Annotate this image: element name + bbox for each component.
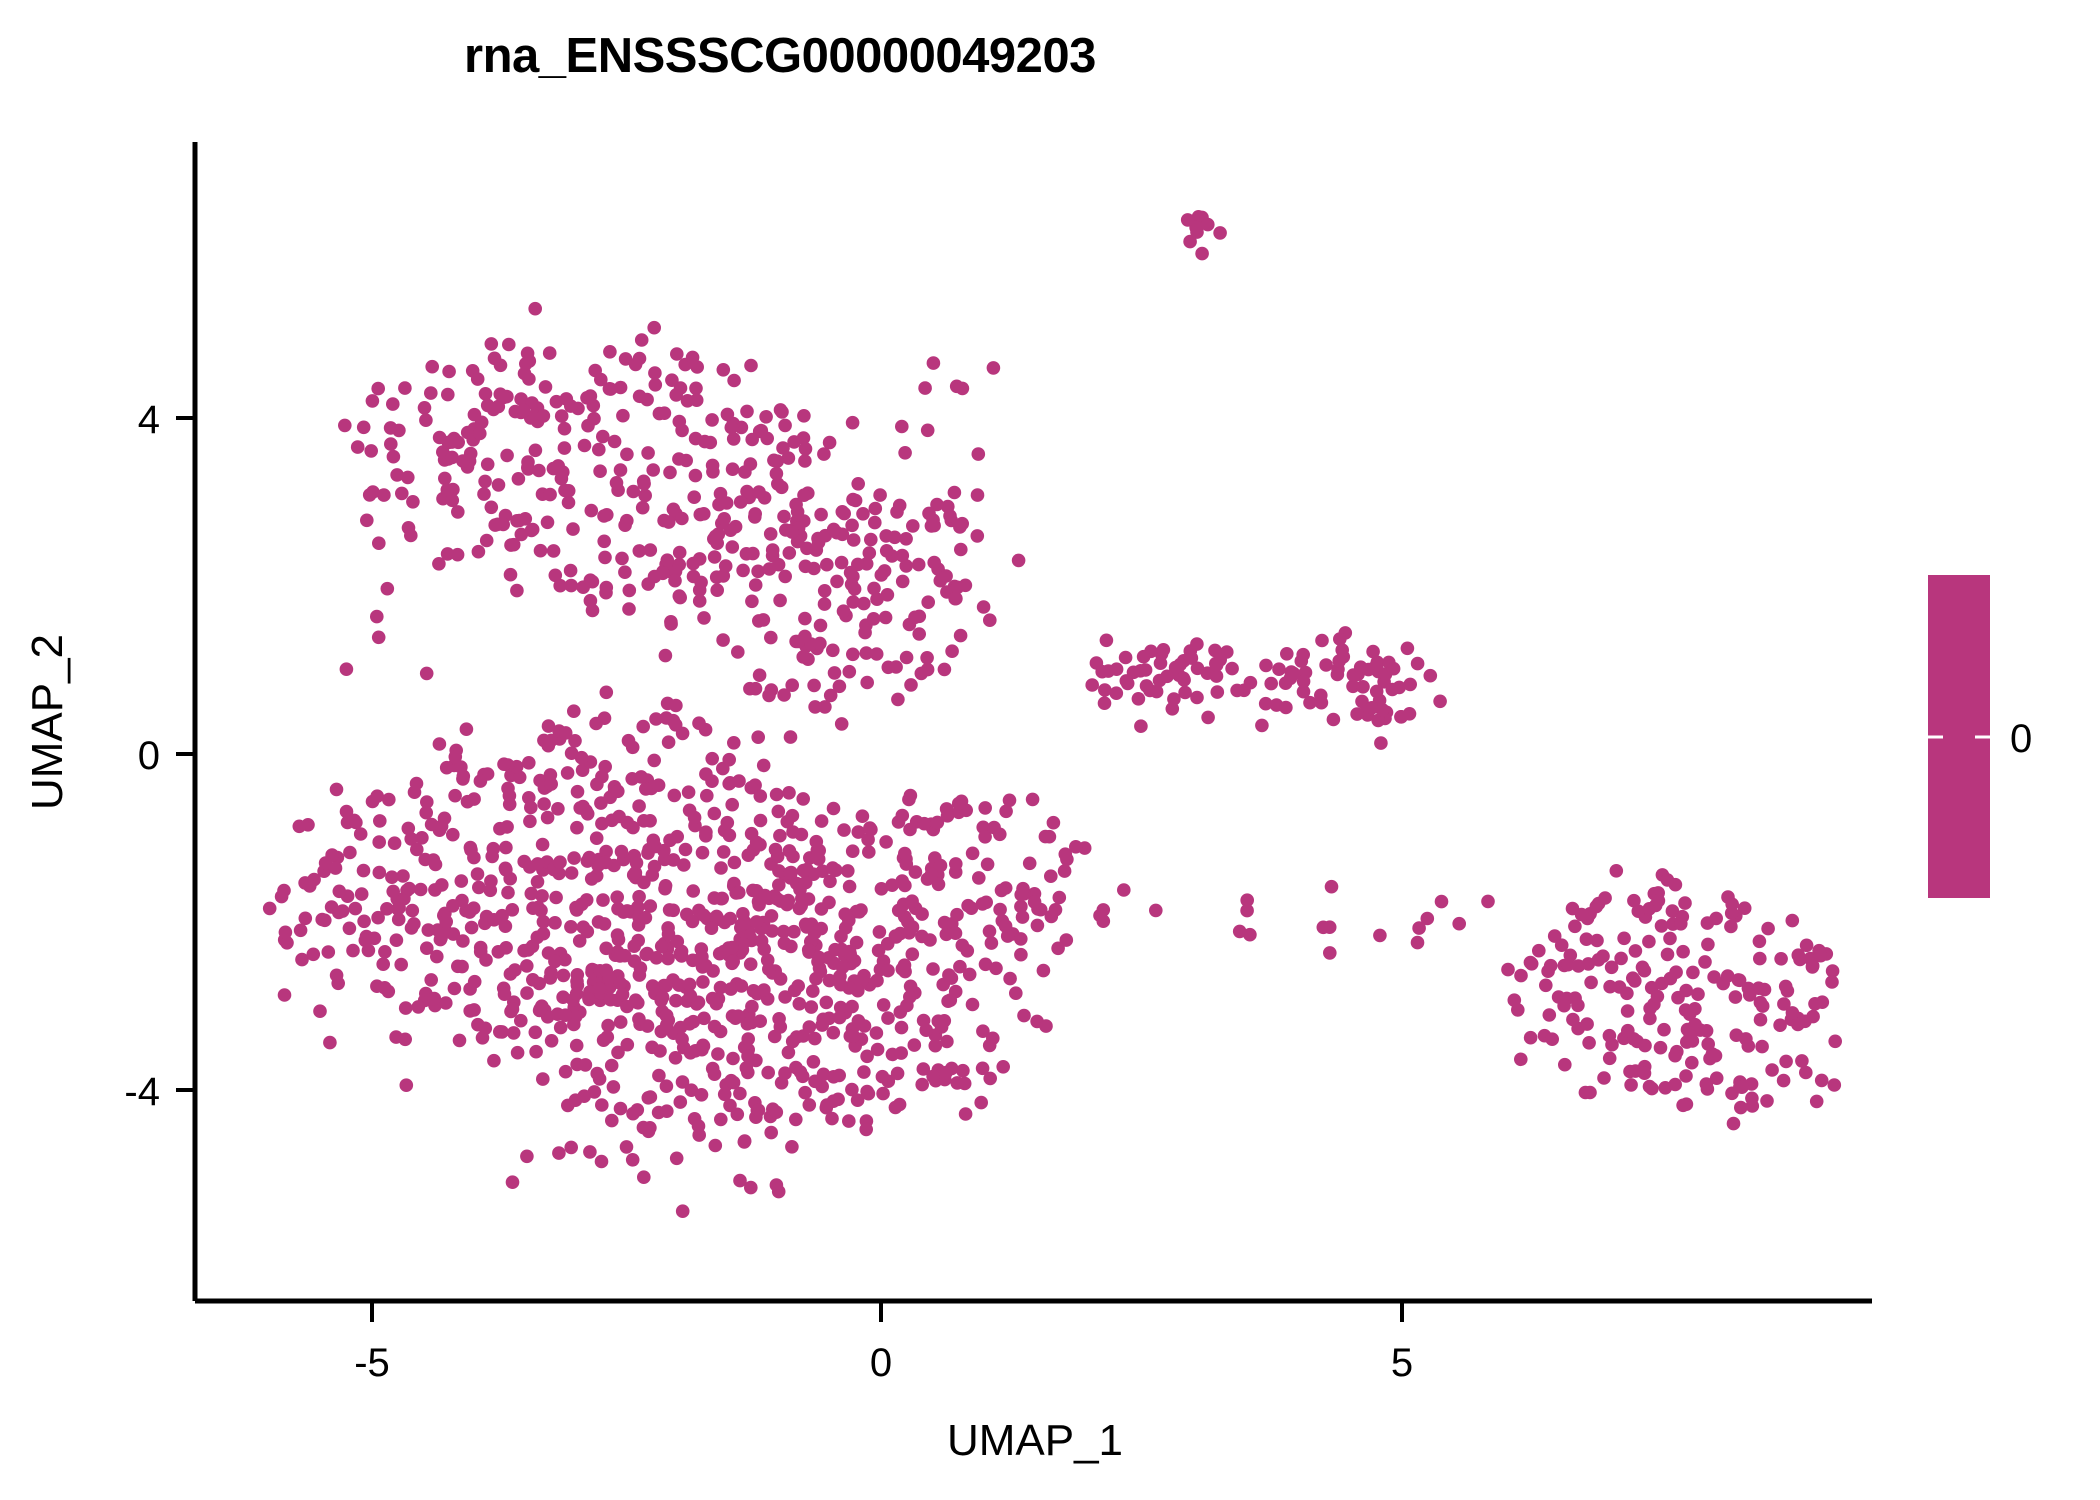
scatter-point	[1017, 1009, 1031, 1023]
scatter-point	[433, 431, 447, 445]
scatter-point	[777, 688, 791, 702]
scatter-point	[1210, 658, 1224, 672]
scatter-point	[705, 413, 719, 427]
scatter-point	[1597, 1071, 1611, 1085]
axes-group	[195, 142, 1872, 1301]
scatter-point	[882, 661, 896, 675]
scatter-point	[670, 347, 684, 361]
scatter-point	[442, 365, 456, 379]
scatter-point	[721, 408, 735, 422]
scatter-point	[399, 1001, 413, 1015]
scatter-point	[736, 564, 750, 578]
scatter-point	[1755, 1040, 1769, 1054]
scatter-point	[877, 998, 891, 1012]
scatter-point	[949, 857, 963, 871]
scatter-point	[419, 413, 433, 427]
scatter-point	[724, 523, 738, 537]
scatter-point	[1003, 972, 1017, 986]
scatter-point	[1157, 643, 1171, 657]
scatter-point	[660, 1104, 674, 1118]
scatter-point	[597, 535, 611, 549]
scatter-point	[783, 546, 797, 560]
scatter-point	[1160, 670, 1174, 684]
scatter-point	[820, 996, 834, 1010]
scatter-point	[1395, 710, 1409, 724]
scatter-point	[595, 1155, 609, 1169]
scatter-point	[402, 882, 416, 896]
scatter-point	[492, 478, 506, 492]
scatter-point	[777, 510, 791, 524]
scatter-point	[1815, 1074, 1829, 1088]
scatter-point	[896, 809, 910, 823]
scatter-point	[704, 436, 718, 450]
scatter-point	[357, 915, 371, 929]
scatter-point	[860, 676, 874, 690]
scatter-point	[428, 883, 442, 897]
scatter-point	[731, 645, 745, 659]
scatter-point	[510, 514, 524, 528]
scatter-point	[784, 730, 798, 744]
scatter-point	[899, 532, 913, 546]
scatter-point	[1643, 1002, 1657, 1016]
scatter-point	[927, 356, 941, 370]
scatter-point	[748, 507, 762, 521]
scatter-point	[690, 393, 704, 407]
scatter-point	[517, 404, 531, 418]
scatter-point	[553, 855, 567, 869]
scatter-point	[813, 637, 827, 651]
scatter-point	[752, 1103, 766, 1117]
scatter-point	[654, 994, 668, 1008]
scatter-point	[881, 588, 895, 602]
scatter-point	[1098, 683, 1112, 697]
scatter-point	[565, 866, 579, 880]
scatter-point	[366, 394, 380, 408]
scatter-point	[1701, 1037, 1715, 1051]
scatter-points-layer	[263, 210, 1842, 1218]
scatter-point	[1584, 976, 1598, 990]
scatter-point	[1661, 948, 1675, 962]
scatter-point	[622, 602, 636, 616]
scatter-point	[611, 785, 625, 799]
scatter-point	[402, 822, 416, 836]
scatter-point	[689, 382, 703, 396]
scatter-point	[674, 1021, 688, 1035]
scatter-point	[1828, 1078, 1842, 1092]
scatter-point	[451, 505, 465, 519]
scatter-point	[1259, 659, 1273, 673]
scatter-point	[1058, 864, 1072, 878]
scatter-point	[1452, 917, 1466, 931]
scatter-point	[1596, 949, 1610, 963]
scatter-point	[689, 469, 703, 483]
scatter-point	[652, 778, 666, 792]
scatter-point	[1401, 642, 1415, 656]
scatter-point	[600, 686, 614, 700]
scatter-point	[669, 388, 683, 402]
scatter-point	[1727, 1117, 1741, 1131]
scatter-point	[1053, 891, 1067, 905]
scatter-point	[507, 1026, 521, 1040]
scatter-point	[1240, 904, 1254, 918]
scatter-point	[935, 1020, 949, 1034]
scatter-point	[750, 836, 764, 850]
scatter-point	[570, 987, 584, 1001]
scatter-point	[570, 821, 584, 835]
scatter-point	[753, 668, 767, 682]
scatter-point	[597, 509, 611, 523]
scatter-point	[814, 922, 828, 936]
scatter-point	[769, 843, 783, 857]
scatter-point	[635, 333, 649, 347]
scatter-point	[812, 852, 826, 866]
scatter-point	[647, 834, 661, 848]
scatter-point	[534, 544, 548, 558]
scatter-point	[1272, 662, 1286, 676]
scatter-point	[673, 546, 687, 560]
scatter-point	[1132, 692, 1146, 706]
scatter-point	[1663, 932, 1677, 946]
scatter-point	[1376, 703, 1390, 717]
scatter-point	[993, 903, 1007, 917]
scatter-point	[524, 801, 538, 815]
scatter-point	[904, 678, 918, 692]
scatter-point	[372, 631, 386, 645]
scatter-point	[709, 530, 723, 544]
scatter-point	[1314, 689, 1328, 703]
scatter-point	[795, 828, 809, 842]
scatter-point	[615, 845, 629, 859]
scatter-point	[658, 406, 672, 420]
scatter-point	[891, 693, 905, 707]
scatter-point	[668, 574, 682, 588]
scatter-point	[876, 1070, 890, 1084]
scatter-point	[1149, 904, 1163, 918]
scatter-point	[869, 502, 883, 516]
scatter-point	[939, 1066, 953, 1080]
scatter-point	[1016, 910, 1030, 924]
scatter-point	[797, 409, 811, 423]
scatter-point	[1566, 1013, 1580, 1027]
scatter-point	[501, 886, 515, 900]
scatter-point	[616, 409, 630, 423]
scatter-point	[740, 405, 754, 419]
scatter-point	[390, 933, 404, 947]
scatter-point	[1580, 1017, 1594, 1031]
scatter-point	[1685, 1056, 1699, 1070]
scatter-point	[1688, 1002, 1702, 1016]
scatter-point	[818, 584, 832, 598]
scatter-point	[1734, 1101, 1748, 1115]
scatter-point	[585, 504, 599, 518]
scatter-point	[1362, 663, 1376, 677]
scatter-point	[1761, 922, 1775, 936]
scatter-point	[418, 853, 432, 867]
scatter-point	[593, 1072, 607, 1086]
scatter-point	[774, 1020, 788, 1034]
scatter-point	[503, 789, 517, 803]
scatter-point	[533, 1002, 547, 1016]
scatter-point	[279, 926, 293, 940]
scatter-point	[669, 994, 683, 1008]
scatter-point	[814, 619, 828, 633]
scatter-point	[585, 872, 599, 886]
scatter-point	[814, 508, 828, 522]
scatter-point	[917, 817, 931, 831]
scatter-point	[675, 1032, 689, 1046]
scatter-point	[726, 462, 740, 476]
scatter-point	[996, 1060, 1010, 1074]
scatter-point	[357, 421, 371, 435]
scatter-point	[1679, 1069, 1693, 1083]
scatter-point	[661, 553, 675, 567]
scatter-point	[1709, 912, 1723, 926]
scatter-point	[671, 935, 685, 949]
scatter-point	[620, 904, 634, 918]
scatter-point	[867, 612, 881, 626]
scatter-point	[593, 464, 607, 478]
scatter-point	[559, 1065, 573, 1079]
scatter-point	[1621, 1004, 1635, 1018]
scatter-point	[806, 984, 820, 998]
scatter-point	[673, 415, 687, 429]
scatter-point	[620, 448, 634, 462]
scatter-point	[446, 828, 460, 842]
scatter-point	[670, 830, 684, 844]
scatter-point	[726, 1052, 740, 1066]
scatter-point	[433, 737, 447, 751]
scatter-point	[333, 885, 347, 899]
scatter-point	[668, 789, 682, 803]
scatter-point	[687, 490, 701, 504]
scatter-point	[799, 442, 813, 456]
scatter-point	[816, 1013, 830, 1027]
scatter-point	[1756, 999, 1770, 1013]
scatter-point	[539, 380, 553, 394]
scatter-point	[1668, 1078, 1682, 1092]
scatter-point	[1093, 909, 1107, 923]
scatter-point	[1501, 963, 1515, 977]
scatter-point	[340, 662, 354, 676]
scatter-point	[1800, 939, 1814, 953]
scatter-point	[587, 412, 601, 426]
scatter-point	[757, 759, 771, 773]
scatter-point	[711, 1047, 725, 1061]
scatter-point	[1603, 1052, 1617, 1066]
scatter-point	[1524, 1031, 1538, 1045]
scatter-point	[827, 1026, 841, 1040]
scatter-point	[388, 836, 402, 850]
scatter-point	[972, 447, 986, 461]
scatter-point	[759, 410, 773, 424]
scatter-point	[953, 520, 967, 534]
x-axis-title: UMAP_1	[947, 1416, 1123, 1465]
scatter-point	[699, 767, 713, 781]
scatter-point	[1332, 654, 1346, 668]
scatter-point	[1652, 894, 1666, 908]
scatter-point	[497, 391, 511, 405]
scatter-point	[371, 911, 385, 925]
scatter-point	[1191, 662, 1205, 676]
scatter-point	[357, 864, 371, 878]
scatter-point	[537, 915, 551, 929]
scatter-point	[921, 595, 935, 609]
scatter-point	[529, 1045, 543, 1059]
scatter-point	[723, 776, 737, 790]
scatter-point	[1411, 657, 1425, 671]
scatter-point	[851, 477, 865, 491]
scatter-point	[995, 884, 1009, 898]
scatter-point	[1392, 681, 1406, 695]
scatter-point	[621, 1038, 635, 1052]
scatter-point	[559, 726, 573, 740]
scatter-point	[330, 969, 344, 983]
scatter-point	[488, 352, 502, 366]
scatter-point	[398, 1033, 412, 1047]
scatter-point	[441, 483, 455, 497]
scatter-point	[349, 816, 363, 830]
scatter-point	[875, 568, 889, 582]
scatter-point	[987, 361, 1001, 375]
scatter-point	[881, 964, 895, 978]
scatter-point	[1411, 936, 1425, 950]
scatter-point	[406, 904, 420, 918]
scatter-point	[439, 915, 453, 929]
scatter-point	[1700, 1024, 1714, 1038]
scatter-point	[809, 972, 823, 986]
scatter-point	[633, 390, 647, 404]
scatter-point	[658, 882, 672, 896]
scatter-point	[1691, 987, 1705, 1001]
scatter-point	[498, 987, 512, 1001]
scatter-point	[803, 1098, 817, 1112]
scatter-point	[843, 665, 857, 679]
scatter-point	[958, 1077, 972, 1091]
scatter-point	[372, 835, 386, 849]
scatter-point	[700, 789, 714, 803]
scatter-point	[1676, 945, 1690, 959]
scatter-point	[669, 699, 683, 713]
scatter-point	[551, 459, 565, 473]
scatter-point	[564, 1141, 578, 1155]
scatter-point	[1213, 226, 1227, 240]
scatter-point	[1524, 956, 1538, 970]
scatter-point	[1568, 991, 1582, 1005]
scatter-point	[983, 925, 997, 939]
scatter-point	[478, 475, 492, 489]
scatter-point	[395, 487, 409, 501]
scatter-point	[915, 907, 929, 921]
scatter-point	[641, 446, 655, 460]
scatter-point	[512, 472, 526, 486]
scatter-point	[687, 570, 701, 584]
scatter-point	[1779, 980, 1793, 994]
scatter-point	[1628, 974, 1642, 988]
scatter-point	[637, 477, 651, 491]
scatter-point	[705, 921, 719, 935]
scatter-point	[307, 948, 321, 962]
scatter-point	[974, 1096, 988, 1110]
scatter-point	[471, 867, 485, 881]
scatter-point	[412, 1000, 426, 1014]
scatter-point	[637, 876, 651, 890]
scatter-point	[696, 846, 710, 860]
scatter-point	[772, 878, 786, 892]
scatter-point	[898, 879, 912, 893]
scatter-point	[453, 1034, 467, 1048]
scatter-point	[762, 689, 776, 703]
scatter-point	[1110, 686, 1124, 700]
scatter-point	[510, 584, 524, 598]
scatter-point	[632, 890, 646, 904]
scatter-point	[1319, 658, 1333, 672]
scatter-point	[567, 851, 581, 865]
scatter-point	[873, 925, 887, 939]
scatter-point	[1709, 1049, 1723, 1063]
scatter-point	[824, 689, 838, 703]
scatter-point	[323, 1036, 337, 1050]
scatter-point	[726, 540, 740, 554]
scatter-point	[263, 902, 277, 916]
scatter-point	[706, 1062, 720, 1076]
scatter-point	[550, 395, 564, 409]
scatter-point	[938, 916, 952, 930]
scatter-point	[528, 302, 542, 316]
scatter-point	[332, 906, 346, 920]
scatter-point	[636, 501, 650, 515]
scatter-point	[749, 682, 763, 696]
scatter-point	[696, 975, 710, 989]
scatter-point	[817, 447, 831, 461]
scatter-point	[564, 564, 578, 578]
scatter-point	[360, 514, 374, 528]
scatter-point	[706, 459, 720, 473]
scatter-point	[610, 476, 624, 490]
scatter-point	[922, 507, 936, 521]
scatter-point	[558, 484, 572, 498]
scatter-point	[722, 753, 736, 767]
scatter-point	[750, 915, 764, 929]
scatter-point	[836, 960, 850, 974]
scatter-point	[941, 809, 955, 823]
scatter-point	[663, 903, 677, 917]
scatter-point	[1620, 987, 1634, 1001]
scatter-point	[661, 952, 675, 966]
scatter-point	[829, 863, 843, 877]
scatter-point	[727, 374, 741, 388]
scatter-point	[349, 902, 363, 916]
chart-canvas: 4 0 -4 -5 0 5 UMAP_1 UMAP_2 0	[0, 0, 2100, 1500]
scatter-point	[485, 337, 499, 351]
scatter-point	[1098, 696, 1112, 710]
scatter-point	[610, 890, 624, 904]
scatter-point	[898, 446, 912, 460]
scatter-point	[382, 793, 396, 807]
scatter-point	[915, 1078, 929, 1092]
scatter-point	[841, 864, 855, 878]
scatter-point	[744, 1181, 758, 1195]
scatter-point	[846, 493, 860, 507]
scatter-point	[757, 613, 771, 627]
scatter-point	[583, 1145, 597, 1159]
scatter-point	[727, 432, 741, 446]
scatter-point	[785, 525, 799, 539]
scatter-point	[520, 986, 534, 1000]
scatter-point	[1037, 964, 1051, 978]
scatter-point	[506, 1175, 520, 1189]
scatter-point	[620, 1000, 634, 1014]
scatter-point	[1721, 969, 1735, 983]
